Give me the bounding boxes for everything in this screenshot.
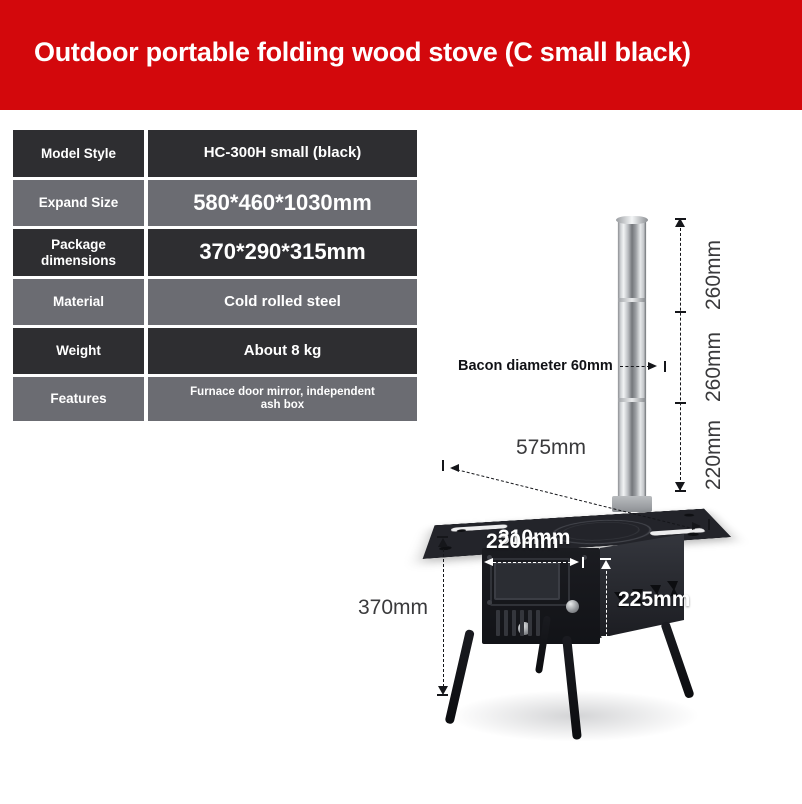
package-label-line2: dimensions bbox=[41, 253, 116, 268]
arrow-right-icon bbox=[692, 522, 701, 530]
arrow-right-icon bbox=[556, 502, 565, 510]
tick-mark bbox=[442, 460, 444, 471]
chimney-pipe bbox=[618, 218, 646, 503]
dimension-leg-height-370mm: 370mm bbox=[358, 596, 428, 620]
spec-label-expand-size: Expand Size bbox=[13, 180, 144, 226]
arrow-up-icon bbox=[438, 538, 448, 547]
dimension-line-chimney-upper bbox=[680, 218, 681, 490]
arrow-left-icon bbox=[484, 558, 493, 566]
dimension-line-leg-height bbox=[443, 544, 444, 692]
stove-leg-back-right bbox=[660, 621, 695, 700]
air-vent-grille bbox=[496, 610, 546, 636]
arrow-up-icon bbox=[601, 560, 611, 569]
arrow-right-icon bbox=[570, 558, 579, 566]
dimension-chimney-top-260mm: 260mm bbox=[702, 240, 726, 310]
product-diagram: 260mm 260mm 220mm Bacon diameter 60mm 57… bbox=[330, 130, 802, 790]
spec-label-weight: Weight bbox=[13, 328, 144, 374]
dimension-line-cooktop bbox=[480, 503, 561, 517]
tick-mark bbox=[470, 510, 472, 521]
tick-mark bbox=[437, 536, 448, 538]
spec-label-features: Features bbox=[13, 377, 144, 421]
arrow-left-icon bbox=[450, 464, 459, 472]
spec-label-material: Material bbox=[13, 279, 144, 325]
dimension-line-door-width bbox=[488, 562, 576, 563]
arrow-right-icon bbox=[648, 362, 657, 370]
dimension-body-height-225mm: 225mm bbox=[618, 588, 690, 612]
arrow-left-icon bbox=[476, 514, 485, 522]
tick-mark bbox=[675, 490, 686, 492]
plate-hole bbox=[683, 513, 695, 516]
spec-label-model-style: Model Style bbox=[13, 130, 144, 177]
page-title: Outdoor portable folding wood stove (C s… bbox=[34, 37, 774, 68]
chimney-seam bbox=[618, 298, 646, 302]
tick-mark bbox=[582, 557, 584, 568]
furnace-door-glass bbox=[494, 562, 560, 600]
tick-mark bbox=[437, 694, 448, 696]
door-latch-knob bbox=[566, 600, 579, 613]
dimension-line-pipe-diameter bbox=[620, 366, 650, 367]
chimney-seam bbox=[618, 398, 646, 402]
dimension-chimney-mid-260mm: 260mm bbox=[702, 332, 726, 402]
tick-mark bbox=[568, 496, 570, 507]
tick-mark bbox=[675, 402, 686, 404]
tick-mark bbox=[600, 644, 611, 646]
dimension-line-body-height bbox=[606, 566, 607, 642]
body-screw bbox=[487, 600, 492, 605]
header-banner: Outdoor portable folding wood stove (C s… bbox=[0, 0, 802, 110]
tick-mark bbox=[675, 218, 686, 220]
tick-mark bbox=[664, 361, 666, 372]
tick-mark bbox=[600, 558, 611, 560]
features-line2: ash box bbox=[261, 399, 304, 411]
tick-mark bbox=[708, 519, 710, 530]
dimension-pipe-diameter-label: Bacon diameter 60mm bbox=[458, 358, 613, 374]
dimension-table-width-575mm: 575mm bbox=[516, 436, 586, 460]
package-label-line1: Package bbox=[51, 237, 106, 252]
plate-hole bbox=[687, 532, 700, 536]
dimension-chimney-bottom-220mm: 220mm bbox=[702, 420, 726, 490]
stove-side-panel bbox=[600, 534, 684, 638]
dimension-door-width-220mm: 220mm bbox=[486, 530, 558, 554]
spec-label-package-dimensions: Package dimensions bbox=[13, 229, 144, 276]
chimney-cap bbox=[616, 216, 648, 224]
tick-mark bbox=[675, 311, 686, 313]
